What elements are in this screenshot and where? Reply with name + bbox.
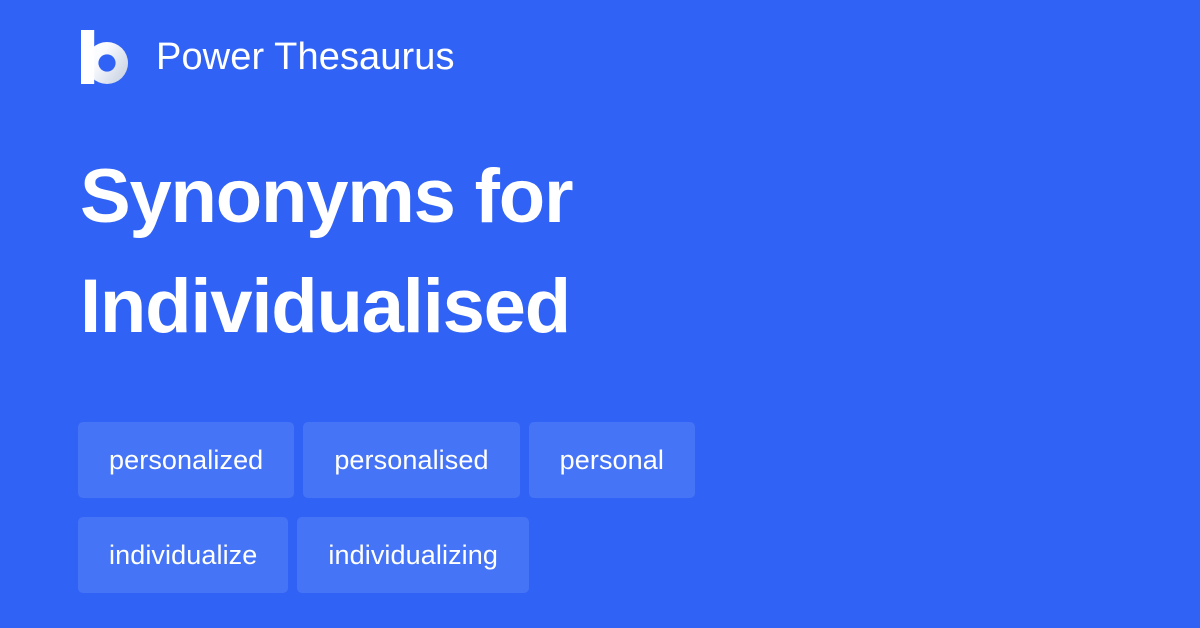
synonym-tag[interactable]: personalised — [303, 422, 519, 498]
headline-line-2: Individualised — [80, 252, 1120, 362]
synonym-tag[interactable]: personal — [529, 422, 695, 498]
share-card: power thesaurus Synonyms for Individuali… — [0, 0, 1200, 628]
synonym-tag[interactable]: personalized — [78, 422, 294, 498]
synonym-tag[interactable]: individualizing — [297, 517, 529, 593]
synonym-tag-row: individualize individualizing — [78, 517, 1128, 593]
headline-line-1: Synonyms for — [80, 142, 1120, 252]
power-thesaurus-b-logo-icon — [80, 30, 132, 84]
synonym-tag-grid: personalized personalised personal indiv… — [78, 422, 1128, 593]
brand-name: power thesaurus — [156, 38, 455, 76]
synonym-tag[interactable]: individualize — [78, 517, 288, 593]
page-title: Synonyms for Individualised — [80, 142, 1120, 362]
brand-header[interactable]: power thesaurus — [80, 28, 455, 86]
synonym-tag-row: personalized personalised personal — [78, 422, 1128, 498]
